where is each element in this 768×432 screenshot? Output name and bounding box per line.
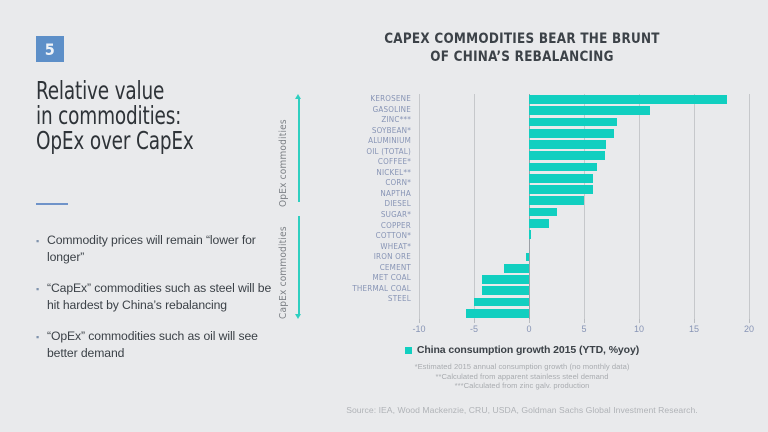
chart-x-axis: -10-505101520 <box>419 319 749 341</box>
chart-bar-row[interactable] <box>419 162 749 173</box>
page-title-line-3: OpEx over CapEx <box>36 128 225 153</box>
chart-bar-row[interactable] <box>419 207 749 218</box>
chart-title-line-1: CAPEX COMMODITIES BEAR THE BRUNT <box>296 30 749 48</box>
chart-bar-row[interactable] <box>419 105 749 116</box>
chart-bar-row[interactable] <box>419 274 749 285</box>
chart-footnotes: *Estimated 2015 annual consumption growt… <box>276 362 768 391</box>
chart-bar[interactable] <box>466 309 529 318</box>
bullet-list: ▪ Commodity prices will remain “lower fo… <box>36 232 272 376</box>
chart-bar[interactable] <box>529 230 531 239</box>
chart-bar[interactable] <box>504 264 529 273</box>
chart-bar[interactable] <box>529 106 650 115</box>
page-title: Relative value in commodities: OpEx over… <box>36 78 225 153</box>
chart-bar[interactable] <box>529 185 593 194</box>
chart-bar-row[interactable] <box>419 117 749 128</box>
x-tick-label: 0 <box>526 324 531 334</box>
chart-bar[interactable] <box>482 286 529 295</box>
x-tick-label: -5 <box>470 324 478 334</box>
bullet-marker-icon: ▪ <box>36 328 47 361</box>
legend-label: China consumption growth 2015 (YTD, %yoy… <box>417 344 639 356</box>
chart-bar[interactable] <box>474 298 529 307</box>
chart-bar-row[interactable] <box>419 308 749 319</box>
category-label: KEROSENE <box>296 94 416 105</box>
bullet-text: “OpEx” commodities such as oil will see … <box>47 328 272 361</box>
list-item: ▪ “CapEx” commodities such as steel will… <box>36 280 272 313</box>
left-content-panel: 5 Relative value in commodities: OpEx ov… <box>0 0 276 432</box>
chart-bar[interactable] <box>529 163 597 172</box>
category-label: SOYBEAN* <box>296 126 416 137</box>
gridline <box>749 94 750 319</box>
x-tick-label: 5 <box>581 324 586 334</box>
chart-bar-row[interactable] <box>419 285 749 296</box>
chart-bar[interactable] <box>529 208 557 217</box>
x-tick-label: 20 <box>744 324 754 334</box>
category-label: CEMENT <box>296 263 416 274</box>
bullet-text: “CapEx” commodities such as steel will b… <box>47 280 272 313</box>
chart-bar[interactable] <box>526 253 529 262</box>
category-label: DIESEL <box>296 199 416 210</box>
chart-bar-row[interactable] <box>419 297 749 308</box>
x-tick-mark <box>419 319 420 323</box>
chart-bar[interactable] <box>529 95 727 104</box>
x-tick-label: 15 <box>689 324 699 334</box>
chart-bar[interactable] <box>529 129 614 138</box>
chart-plot-area <box>419 94 749 319</box>
chart-bar-row[interactable] <box>419 252 749 263</box>
category-label: COPPER <box>296 221 416 232</box>
list-item: ▪ “OpEx” commodities such as oil will se… <box>36 328 272 361</box>
chart-bar-row[interactable] <box>419 128 749 139</box>
group-arrow-head-down-icon <box>295 314 301 319</box>
chart-bar[interactable] <box>529 140 606 149</box>
chart-bar-row[interactable] <box>419 218 749 229</box>
chart-bar-row[interactable] <box>419 195 749 206</box>
x-tick-label: 10 <box>634 324 644 334</box>
chart-bar-row[interactable] <box>419 229 749 240</box>
x-tick-mark <box>749 319 750 323</box>
x-tick-mark <box>529 319 530 323</box>
x-tick-mark <box>694 319 695 323</box>
source-attribution: Source: IEA, Wood Mackenzie, CRU, USDA, … <box>276 405 768 415</box>
category-label: STEEL <box>296 294 416 305</box>
category-label: NICKEL** <box>296 168 416 179</box>
x-tick-mark <box>474 319 475 323</box>
category-label: ZINC*** <box>296 115 416 126</box>
chart-bar-row[interactable] <box>419 263 749 274</box>
footnote: ***Calculated from zinc galv. production <box>276 381 768 391</box>
chart-bar-row[interactable] <box>419 173 749 184</box>
chart-title-line-2: OF CHINA’S REBALANCING <box>296 48 749 66</box>
category-label: IRON ORE <box>296 252 416 263</box>
category-label: GASOLINE <box>296 105 416 116</box>
x-tick-label: -10 <box>412 324 425 334</box>
title-divider <box>36 203 68 205</box>
footnote: **Calculated from apparent stainless ste… <box>276 372 768 382</box>
page-title-line-1: Relative value <box>36 78 225 103</box>
chart-panel: CAPEX COMMODITIES BEAR THE BRUNT OF CHIN… <box>276 0 768 432</box>
category-label: CORN* <box>296 178 416 189</box>
category-label: WHEAT* <box>296 242 416 253</box>
list-item: ▪ Commodity prices will remain “lower fo… <box>36 232 272 265</box>
chart-bar-row[interactable] <box>419 240 749 251</box>
chart-bar-row[interactable] <box>419 139 749 150</box>
slide-number-badge: 5 <box>36 36 64 62</box>
chart-bar-row[interactable] <box>419 150 749 161</box>
bullet-marker-icon: ▪ <box>36 280 47 313</box>
chart-title: CAPEX COMMODITIES BEAR THE BRUNT OF CHIN… <box>296 30 749 66</box>
chart-bar[interactable] <box>529 174 593 183</box>
category-label: THERMAL COAL <box>296 284 416 295</box>
legend-swatch-icon <box>405 347 412 354</box>
category-label: ALUMINIUM <box>296 136 416 147</box>
slide-root: 5 Relative value in commodities: OpEx ov… <box>0 0 768 432</box>
category-label: SUGAR* <box>296 210 416 221</box>
chart-legend: China consumption growth 2015 (YTD, %yoy… <box>276 344 768 356</box>
chart-bar-row[interactable] <box>419 94 749 105</box>
chart-bar[interactable] <box>482 275 529 284</box>
x-tick-mark <box>639 319 640 323</box>
group-axis-label: OpEx commodities <box>278 119 289 207</box>
footnote: *Estimated 2015 annual consumption growt… <box>276 362 768 372</box>
bullet-marker-icon: ▪ <box>36 232 47 265</box>
x-tick-mark <box>584 319 585 323</box>
chart-category-labels: KEROSENEGASOLINEZINC***SOYBEAN*ALUMINIUM… <box>296 94 416 305</box>
chart-bar[interactable] <box>529 196 584 205</box>
category-label: OIL (TOTAL) <box>296 147 416 158</box>
chart-bar-row[interactable] <box>419 184 749 195</box>
category-label: COFFEE* <box>296 157 416 168</box>
chart-bar[interactable] <box>529 151 605 160</box>
group-axis-label: CapEx commodities <box>278 226 289 319</box>
category-label: COTTON* <box>296 231 416 242</box>
page-title-line-2: in commodities: <box>36 103 225 128</box>
category-label: NAPTHA <box>296 189 416 200</box>
chart-bar[interactable] <box>529 118 617 127</box>
bullet-text: Commodity prices will remain “lower for … <box>47 232 272 265</box>
chart-bar[interactable] <box>529 219 549 228</box>
category-label: MET COAL <box>296 273 416 284</box>
